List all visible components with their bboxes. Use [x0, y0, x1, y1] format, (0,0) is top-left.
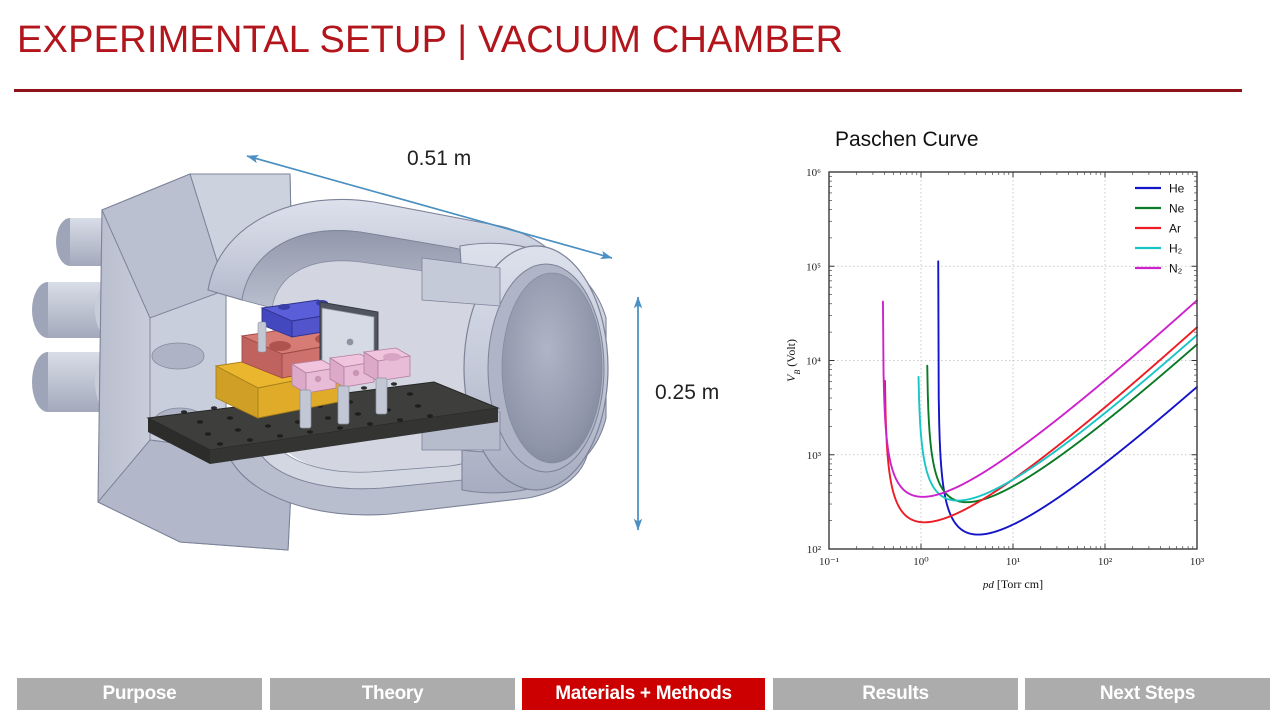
- nav-tab-next-steps[interactable]: Next Steps: [1025, 678, 1270, 710]
- y-tick-label: 10⁴: [806, 356, 821, 368]
- nav-tab-label: Materials + Methods: [555, 683, 731, 705]
- y-tick-label: 10³: [807, 450, 822, 462]
- legend-label-N2: N₂: [1169, 262, 1183, 276]
- x-tick-label: 10⁻¹: [819, 556, 839, 568]
- x-tick-label: 10³: [1190, 556, 1205, 568]
- x-tick-label: 10⁰: [913, 556, 929, 568]
- dimension-label-height: 0.25 m: [655, 381, 719, 405]
- nav-tab-purpose[interactable]: Purpose: [17, 678, 262, 710]
- curve-Ne: [927, 345, 1197, 503]
- legend-label-Ne: Ne: [1169, 202, 1185, 216]
- slide-canvas: EXPERIMENTAL SETUP | VACUUM CHAMBER: [0, 0, 1280, 720]
- nav-tab-label: Results: [862, 683, 929, 705]
- chamber-cutaway-svg: [30, 150, 650, 570]
- page-title: EXPERIMENTAL SETUP | VACUUM CHAMBER: [17, 18, 1217, 62]
- nav-tab-label: Next Steps: [1100, 683, 1195, 705]
- title-divider: [14, 89, 1242, 92]
- curve-Ar: [885, 327, 1197, 522]
- vacuum-chamber-figure: [30, 150, 650, 570]
- x-tick-label: 10²: [1098, 556, 1113, 568]
- y-tick-label: 10⁵: [806, 261, 821, 273]
- legend-label-H2: H₂: [1169, 242, 1183, 256]
- y-axis-label: VB (Volt): [784, 339, 802, 382]
- curve-N2: [883, 300, 1197, 497]
- nav-tab-materials-methods[interactable]: Materials + Methods: [522, 678, 765, 710]
- legend-label-Ar: Ar: [1169, 222, 1181, 236]
- paschen-chart-svg: 10⁻¹10⁰10¹10²10³10²10³10⁴10⁵10⁶pd [Torr …: [780, 120, 1250, 590]
- paschen-curve-figure: Paschen Curve 10⁻¹10⁰10¹10²10³10²10³10⁴1…: [780, 120, 1250, 590]
- nav-tab-label: Theory: [362, 683, 424, 705]
- x-axis-label: pd [Torr cm]: [982, 577, 1043, 590]
- nav-tab-label: Purpose: [103, 683, 177, 705]
- dimension-label-length: 0.51 m: [407, 147, 471, 171]
- x-tick-label: 10¹: [1006, 556, 1020, 568]
- y-tick-label: 10²: [807, 544, 822, 556]
- section-nav: PurposeTheoryMaterials + MethodsResultsN…: [0, 678, 1280, 710]
- nav-tab-theory[interactable]: Theory: [270, 678, 515, 710]
- legend-label-He: He: [1169, 182, 1185, 196]
- nav-tab-results[interactable]: Results: [773, 678, 1018, 710]
- curve-He: [938, 261, 1197, 534]
- y-tick-label: 10⁶: [806, 167, 821, 179]
